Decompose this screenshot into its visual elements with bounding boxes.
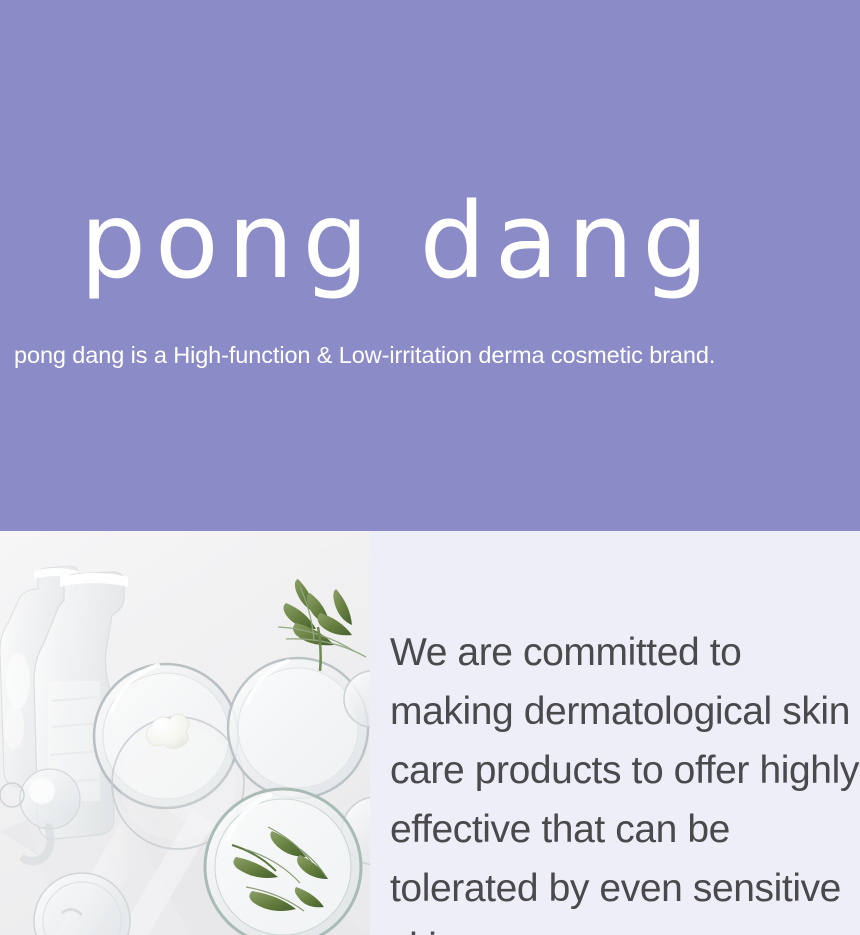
brand-logo: pong dang — [80, 181, 780, 301]
oat-leaf-petri-dish — [205, 789, 361, 935]
mission-statement: We are committed to making dermatologica… — [390, 623, 860, 935]
lab-glassware-illustration — [0, 531, 370, 935]
mission-section: We are committed to making dermatologica… — [0, 531, 860, 935]
empty-petri-dish — [228, 658, 368, 798]
hero-tagline: pong dang is a High-function & Low-irrit… — [14, 338, 860, 372]
hero-section: pong dang pong dang is a High-function &… — [0, 0, 860, 531]
mission-text-panel: We are committed to making dermatologica… — [370, 531, 860, 935]
brand-landing-page: pong dang pong dang is a High-function &… — [0, 0, 860, 935]
lab-glassware-flatlay-photo — [0, 531, 370, 935]
